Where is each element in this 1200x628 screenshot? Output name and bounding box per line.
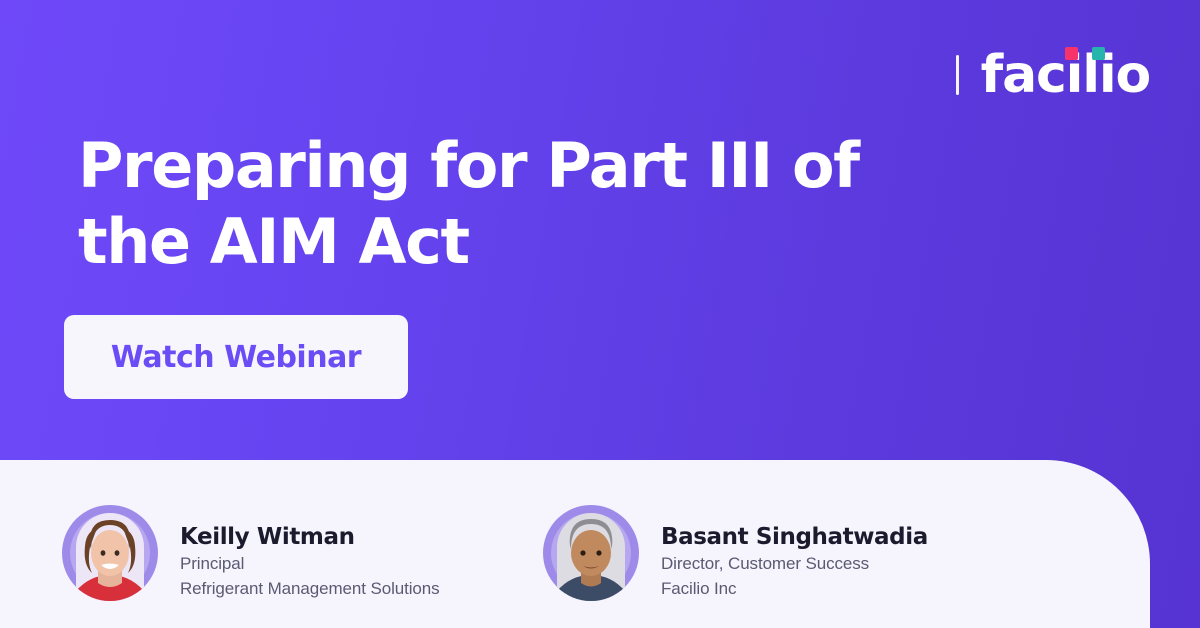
page-title: Preparing for Part III of the AIM Act xyxy=(78,128,958,279)
speaker-name: Basant Singhatwadia xyxy=(661,523,928,552)
speaker-role: Director, Customer Success xyxy=(661,552,928,576)
logo-divider xyxy=(956,55,959,95)
avatar-photo xyxy=(76,513,144,601)
speaker-organization: Facilio Inc xyxy=(661,577,928,601)
speaker-text: Keilly Witman Principal Refrigerant Mana… xyxy=(180,505,440,601)
avatar xyxy=(62,505,158,601)
headshot-illustration-icon xyxy=(557,513,625,601)
brand-logo[interactable]: facilio xyxy=(956,46,1150,104)
speaker-name: Keilly Witman xyxy=(180,523,440,552)
logo-dot-teal-icon xyxy=(1092,47,1105,60)
headshot-illustration-icon xyxy=(76,513,144,601)
speaker-list: Keilly Witman Principal Refrigerant Mana… xyxy=(0,505,1150,601)
webinar-promo-banner: facilio Preparing for Part III of the AI… xyxy=(0,0,1200,628)
speaker-organization: Refrigerant Management Solutions xyxy=(180,577,440,601)
speaker-role: Principal xyxy=(180,552,440,576)
watch-webinar-button[interactable]: Watch Webinar xyxy=(64,315,408,399)
speaker-text: Basant Singhatwadia Director, Customer S… xyxy=(661,505,928,601)
speaker-card: Basant Singhatwadia Director, Customer S… xyxy=(543,505,928,601)
avatar-photo xyxy=(557,513,625,601)
logo-wordmark: facilio xyxy=(981,49,1150,101)
avatar xyxy=(543,505,639,601)
speaker-card: Keilly Witman Principal Refrigerant Mana… xyxy=(62,505,543,601)
logo-dot-pink-icon xyxy=(1065,47,1078,60)
